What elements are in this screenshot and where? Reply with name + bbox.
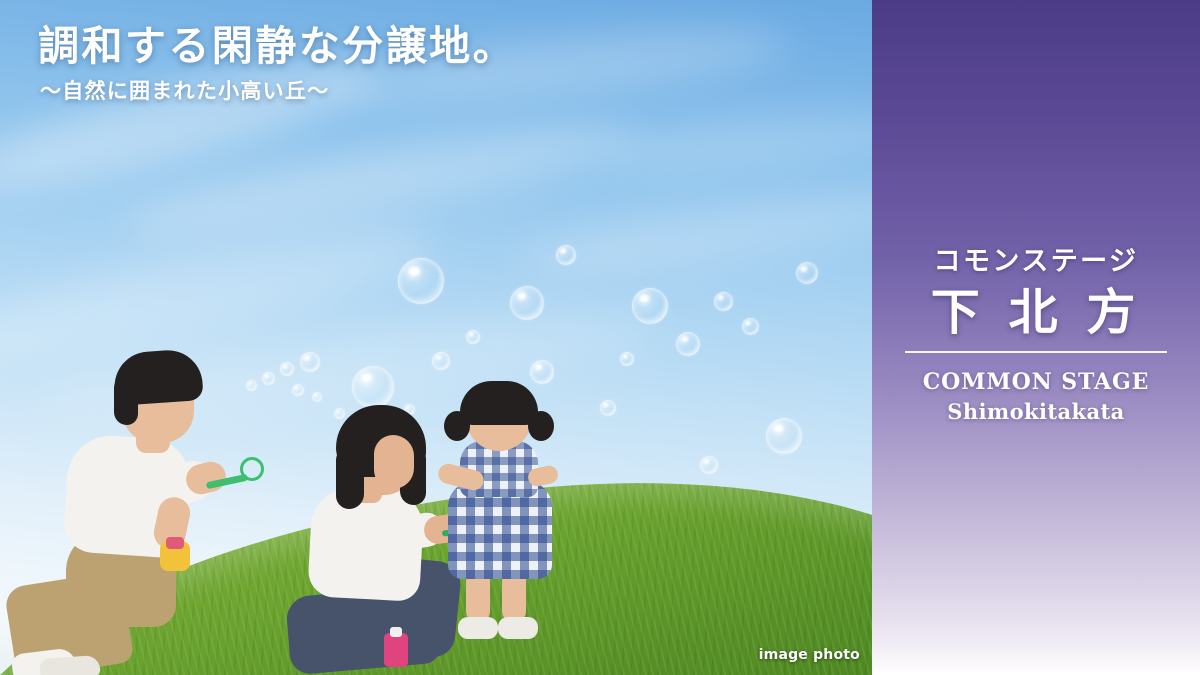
soap-bubble — [292, 384, 304, 396]
person-child — [440, 387, 570, 637]
soap-bubble — [766, 418, 802, 454]
brand-panel: コモンステージ 下 北 方 COMMON STAGE Shimokitakata — [872, 0, 1200, 675]
person-father — [10, 345, 240, 675]
child-pigtail — [444, 411, 470, 441]
headline-block: 調和する閑静な分譲地。 〜自然に囲まれた小高い丘〜 — [38, 22, 516, 105]
promotional-banner: image photo 調和する閑静な分譲地。 〜自然に囲まれた小高い丘〜 コモ… — [0, 0, 1200, 675]
soap-bubble — [262, 372, 275, 385]
brand-kana-label: コモンステージ — [905, 239, 1167, 278]
soap-bubble — [432, 352, 450, 370]
soap-bubble — [796, 262, 818, 284]
soap-bubble — [676, 332, 700, 356]
soap-bubble — [398, 258, 444, 304]
mother-face-front — [374, 435, 414, 489]
child-pigtail — [528, 411, 554, 441]
soap-bubble — [300, 352, 320, 372]
soap-bubble — [632, 288, 668, 324]
soap-bubble — [556, 245, 576, 265]
brand-panel-inner: コモンステージ 下 北 方 COMMON STAGE Shimokitakata — [905, 239, 1167, 425]
soap-bubble — [620, 352, 634, 366]
soap-bubble — [714, 292, 733, 311]
cloud-shape — [599, 106, 872, 181]
soap-bubble — [466, 330, 480, 344]
brand-name-label: 下 北 方 — [905, 286, 1167, 354]
bubble-bottle-cap — [166, 537, 184, 549]
father-sideburn — [114, 375, 138, 425]
cloud-shape — [518, 175, 872, 288]
child-shoe — [498, 617, 538, 639]
bubble-wand-ring — [240, 457, 264, 481]
soap-bubble — [312, 392, 322, 402]
cloud-shape — [119, 105, 642, 254]
brand-english-label: COMMON STAGE — [905, 369, 1167, 395]
brand-romaji-label: Shimokitakata — [905, 399, 1167, 424]
child-shoe — [458, 617, 498, 639]
mother-hair-side — [336, 447, 364, 509]
page-title: 調和する閑静な分譲地。 — [38, 22, 516, 70]
soap-bubble — [530, 360, 554, 384]
page-subtitle: 〜自然に囲まれた小高い丘〜 — [40, 75, 516, 105]
soap-bubble — [600, 400, 616, 416]
father-shoe — [39, 655, 100, 675]
image-photo-credit: image photo — [759, 647, 860, 663]
bubble-bottle-cap — [390, 627, 402, 637]
soap-bubble — [700, 456, 718, 474]
soap-bubble — [510, 286, 544, 320]
soap-bubble — [246, 380, 257, 391]
bubble-bottle-pink — [384, 633, 408, 667]
soap-bubble — [352, 366, 394, 408]
soap-bubble — [742, 318, 759, 335]
child-hair — [460, 381, 538, 425]
soap-bubble — [280, 362, 294, 376]
